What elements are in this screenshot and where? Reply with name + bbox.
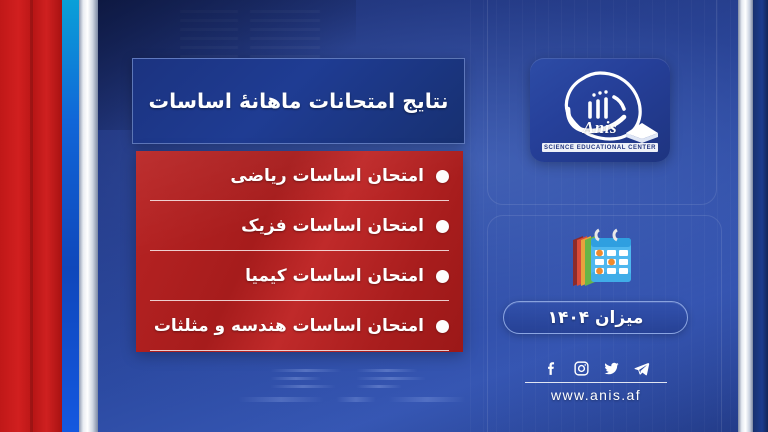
right-dark-band xyxy=(753,0,768,432)
list-item-label: امتحان اساسات هندسه و مثلثات xyxy=(154,318,424,335)
poster-canvas: نتایج امتحانات ماهانهٔ اساسات امتحان اسا… xyxy=(0,0,768,432)
brand-logo-wordmark: Anis xyxy=(538,118,662,138)
twitter-icon[interactable] xyxy=(603,360,620,377)
list-item[interactable]: امتحان اساسات فزیک xyxy=(136,201,463,251)
anis-arch-book-logo-icon xyxy=(538,65,662,155)
left-white-stripe xyxy=(79,0,98,432)
bullet-dot-icon xyxy=(436,320,449,333)
exam-list: امتحان اساسات ریاضی امتحان اساسات فزیک ا… xyxy=(136,151,463,351)
list-item-label: امتحان اساسات فزیک xyxy=(241,218,424,235)
calendar-icon-glyph xyxy=(561,228,639,290)
list-item-label: امتحان اساسات کیمیا xyxy=(245,268,424,285)
social-links xyxy=(519,358,673,378)
page-title: نتایج امتحانات ماهانهٔ اساسات xyxy=(149,89,449,113)
list-item-separator xyxy=(150,350,449,351)
title-panel: نتایج امتحانات ماهانهٔ اساسات xyxy=(132,58,465,144)
background-light-streaks xyxy=(120,355,550,415)
left-cyan-stripe xyxy=(62,0,80,432)
brand-logo-subtitle: SCIENCE EDUCATIONAL CENTER xyxy=(542,143,658,152)
brand-logo-card[interactable]: Anis SCIENCE EDUCATIONAL CENTER xyxy=(530,58,670,162)
left-red-band xyxy=(0,0,62,432)
background-top-texture xyxy=(180,8,500,58)
website-url: www.anis.af xyxy=(519,387,673,403)
footer: www.anis.af xyxy=(519,358,673,403)
bullet-dot-icon xyxy=(436,270,449,283)
exam-list-panel: امتحان اساسات ریاضی امتحان اساسات فزیک ا… xyxy=(136,151,463,352)
date-badge-label: میزان ۱۴۰۴ xyxy=(548,308,644,328)
list-item[interactable]: امتحان اساسات کیمیا xyxy=(136,251,463,301)
telegram-icon[interactable] xyxy=(633,360,650,377)
instagram-icon[interactable] xyxy=(573,360,590,377)
brand-logo: Anis SCIENCE EDUCATIONAL CENTER xyxy=(538,65,662,155)
bullet-dot-icon xyxy=(436,170,449,183)
facebook-icon[interactable] xyxy=(543,360,560,377)
date-badge[interactable]: میزان ۱۴۰۴ xyxy=(503,301,688,334)
footer-divider xyxy=(525,382,667,383)
list-item[interactable]: امتحان اساسات ریاضی xyxy=(136,151,463,201)
right-white-stripe xyxy=(738,0,753,432)
bullet-dot-icon xyxy=(436,220,449,233)
list-item[interactable]: امتحان اساسات هندسه و مثلثات xyxy=(136,301,463,351)
list-item-label: امتحان اساسات ریاضی xyxy=(230,168,424,185)
calendar-icon xyxy=(561,228,639,290)
